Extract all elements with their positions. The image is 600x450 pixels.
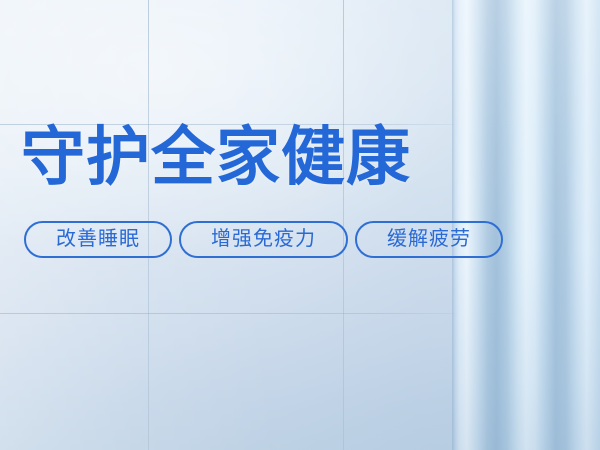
health-promo-banner: 守护全家健康 改善睡眠 增强免疫力 缓解疲劳 <box>0 0 600 450</box>
benefit-tag-row: 改善睡眠 增强免疫力 缓解疲劳 <box>24 221 503 258</box>
benefit-tag-boost-immunity[interactable]: 增强免疫力 <box>179 221 348 258</box>
banner-content: 守护全家健康 改善睡眠 增强免疫力 缓解疲劳 <box>0 0 600 450</box>
benefit-tag-relieve-fatigue[interactable]: 缓解疲劳 <box>355 221 503 258</box>
headline-text: 守护全家健康 <box>21 122 411 192</box>
benefit-tag-improve-sleep[interactable]: 改善睡眠 <box>24 221 172 258</box>
